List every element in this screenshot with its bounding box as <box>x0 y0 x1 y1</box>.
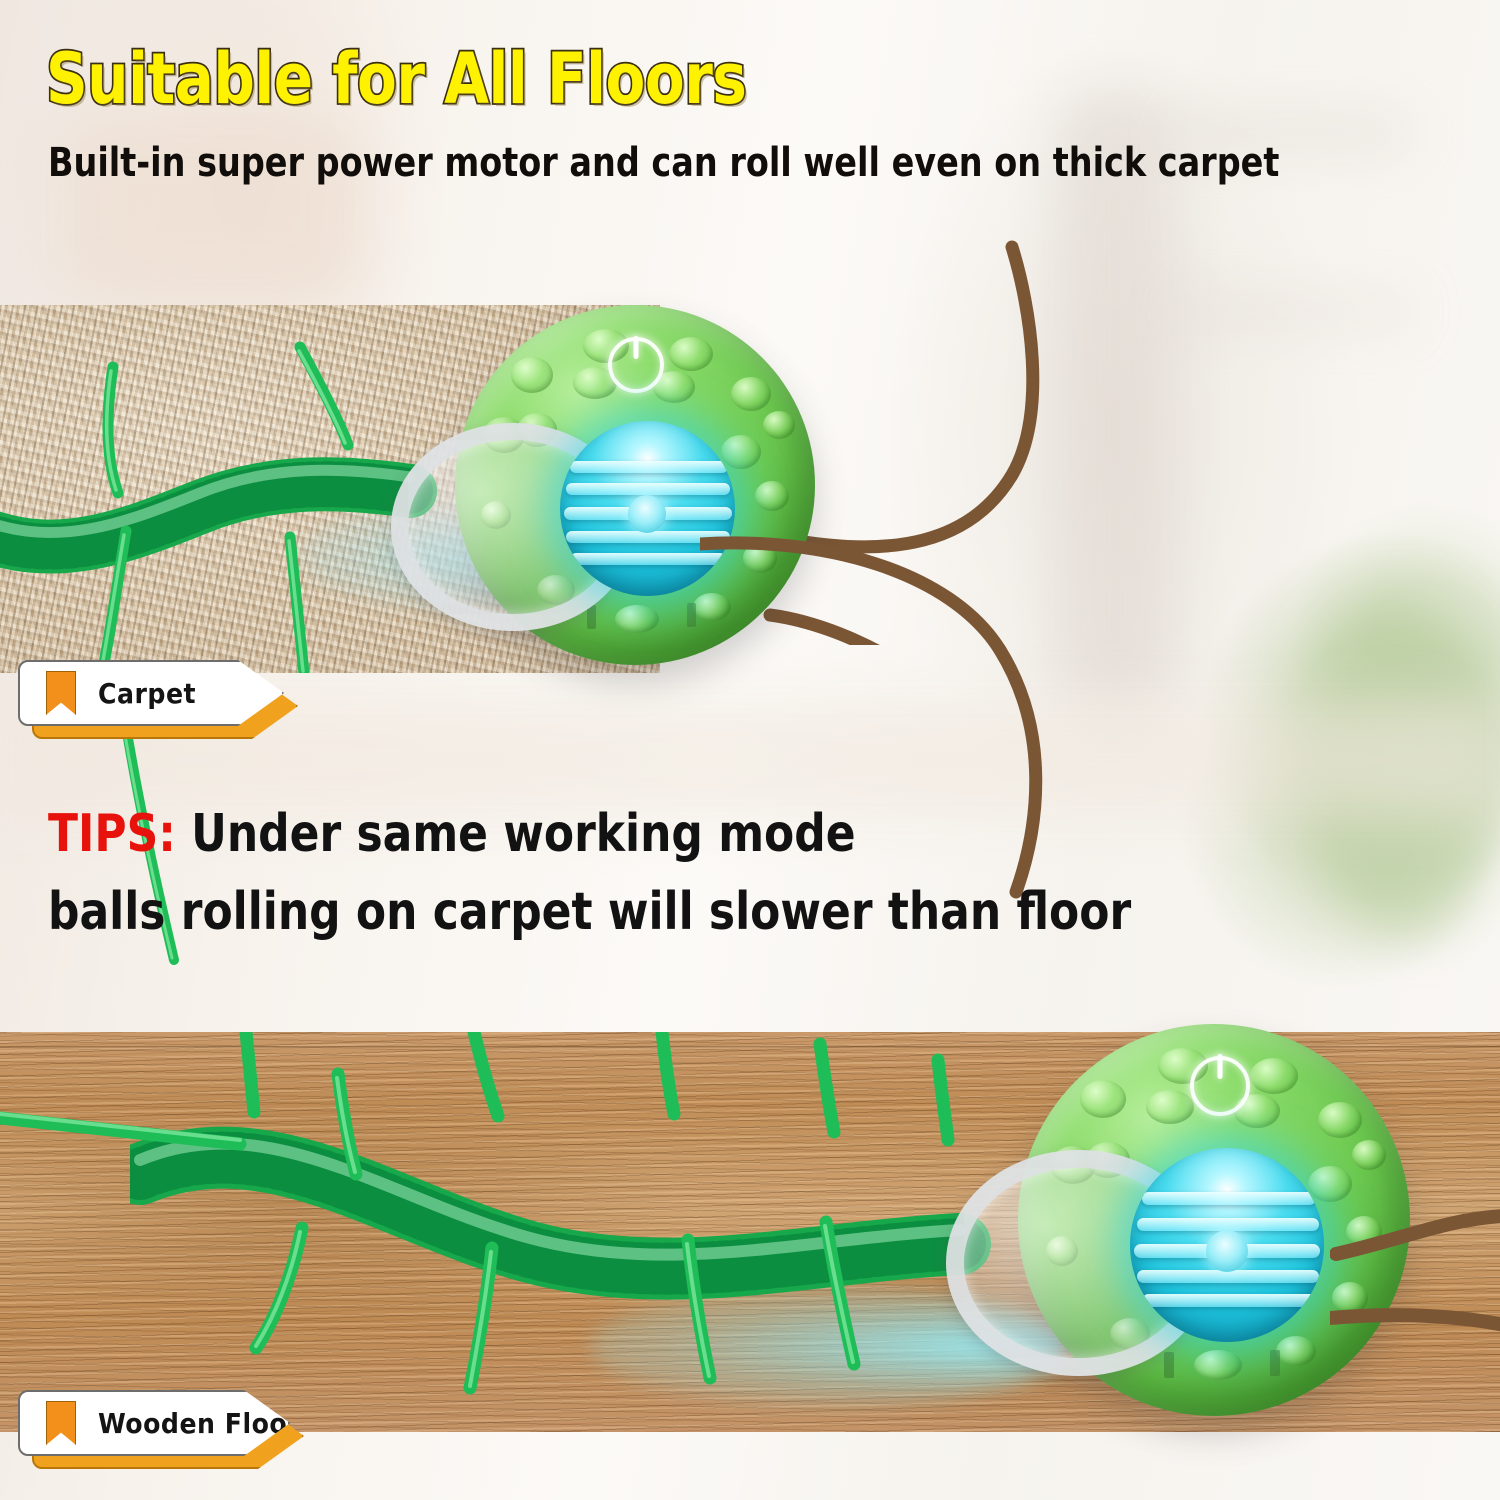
led-hub <box>628 495 666 533</box>
power-icon[interactable] <box>1190 1056 1250 1116</box>
led-hub <box>1206 1230 1248 1272</box>
ball-dimple <box>731 377 771 411</box>
label-wooden-floor: Wooden Floor <box>18 1390 286 1452</box>
power-icon[interactable] <box>608 337 664 393</box>
ball-vent <box>1164 1352 1174 1378</box>
ball-dimple <box>669 337 713 371</box>
ball-vent <box>1270 1350 1280 1376</box>
background-blur-plant <box>1300 600 1490 930</box>
ball-dimple <box>615 605 659 633</box>
label-body: Carpet <box>18 660 284 726</box>
led-slat <box>570 553 726 565</box>
label-body: Wooden Floor <box>18 1390 290 1456</box>
tips-line-1: TIPS: Under same working mode <box>48 795 1131 873</box>
label-carpet-text: Carpet <box>98 677 196 710</box>
led-slat <box>566 483 730 495</box>
bookmark-icon <box>46 671 76 715</box>
product-ball-carpet <box>455 305 815 665</box>
product-feature-image: Suitable for All Floors Built-in super p… <box>0 0 1500 1500</box>
ball-dimple <box>1250 1058 1298 1094</box>
ball-dimple <box>1194 1350 1242 1380</box>
led-light-window <box>560 421 735 596</box>
tips-block: TIPS: Under same working mode balls roll… <box>48 795 1131 951</box>
ball-dimple <box>763 411 795 439</box>
green-mesh-tube-wood <box>130 1102 1030 1352</box>
led-slat <box>1142 1192 1316 1205</box>
page-title: Suitable for All Floors <box>46 44 746 114</box>
page-subtitle: Built-in super power motor and can roll … <box>48 143 1279 183</box>
tips-line-1-text: Under same working mode <box>176 804 856 864</box>
product-ball-wood <box>1018 1024 1410 1416</box>
background-blur-plant-2 <box>1345 700 1495 930</box>
led-slat <box>1142 1294 1316 1307</box>
ball-dimple <box>1332 1282 1368 1314</box>
ball-dimple <box>1318 1102 1362 1138</box>
ball-dimple <box>755 481 789 511</box>
led-slat <box>570 461 728 473</box>
ball-dimple <box>1352 1140 1386 1170</box>
tips-keyword: TIPS: <box>48 804 176 864</box>
ball-dimple <box>511 357 553 393</box>
led-light-window <box>1130 1148 1324 1342</box>
label-wooden-floor-text: Wooden Floor <box>98 1407 300 1440</box>
ball-dimple <box>1276 1336 1316 1366</box>
ball-vent <box>687 603 696 627</box>
ball-dimple <box>1146 1090 1194 1124</box>
ball-dimple <box>1346 1216 1382 1248</box>
ball-dimple <box>1080 1080 1126 1118</box>
label-carpet: Carpet <box>18 660 280 722</box>
ball-dimple <box>693 593 731 621</box>
ball-dimple <box>743 543 777 573</box>
tips-line-2: balls rolling on carpet will slower than… <box>48 873 1131 951</box>
green-mesh-tube-carpet <box>0 385 450 605</box>
background-blur-shelf-2 <box>1180 300 1410 322</box>
bookmark-icon <box>46 1401 76 1445</box>
